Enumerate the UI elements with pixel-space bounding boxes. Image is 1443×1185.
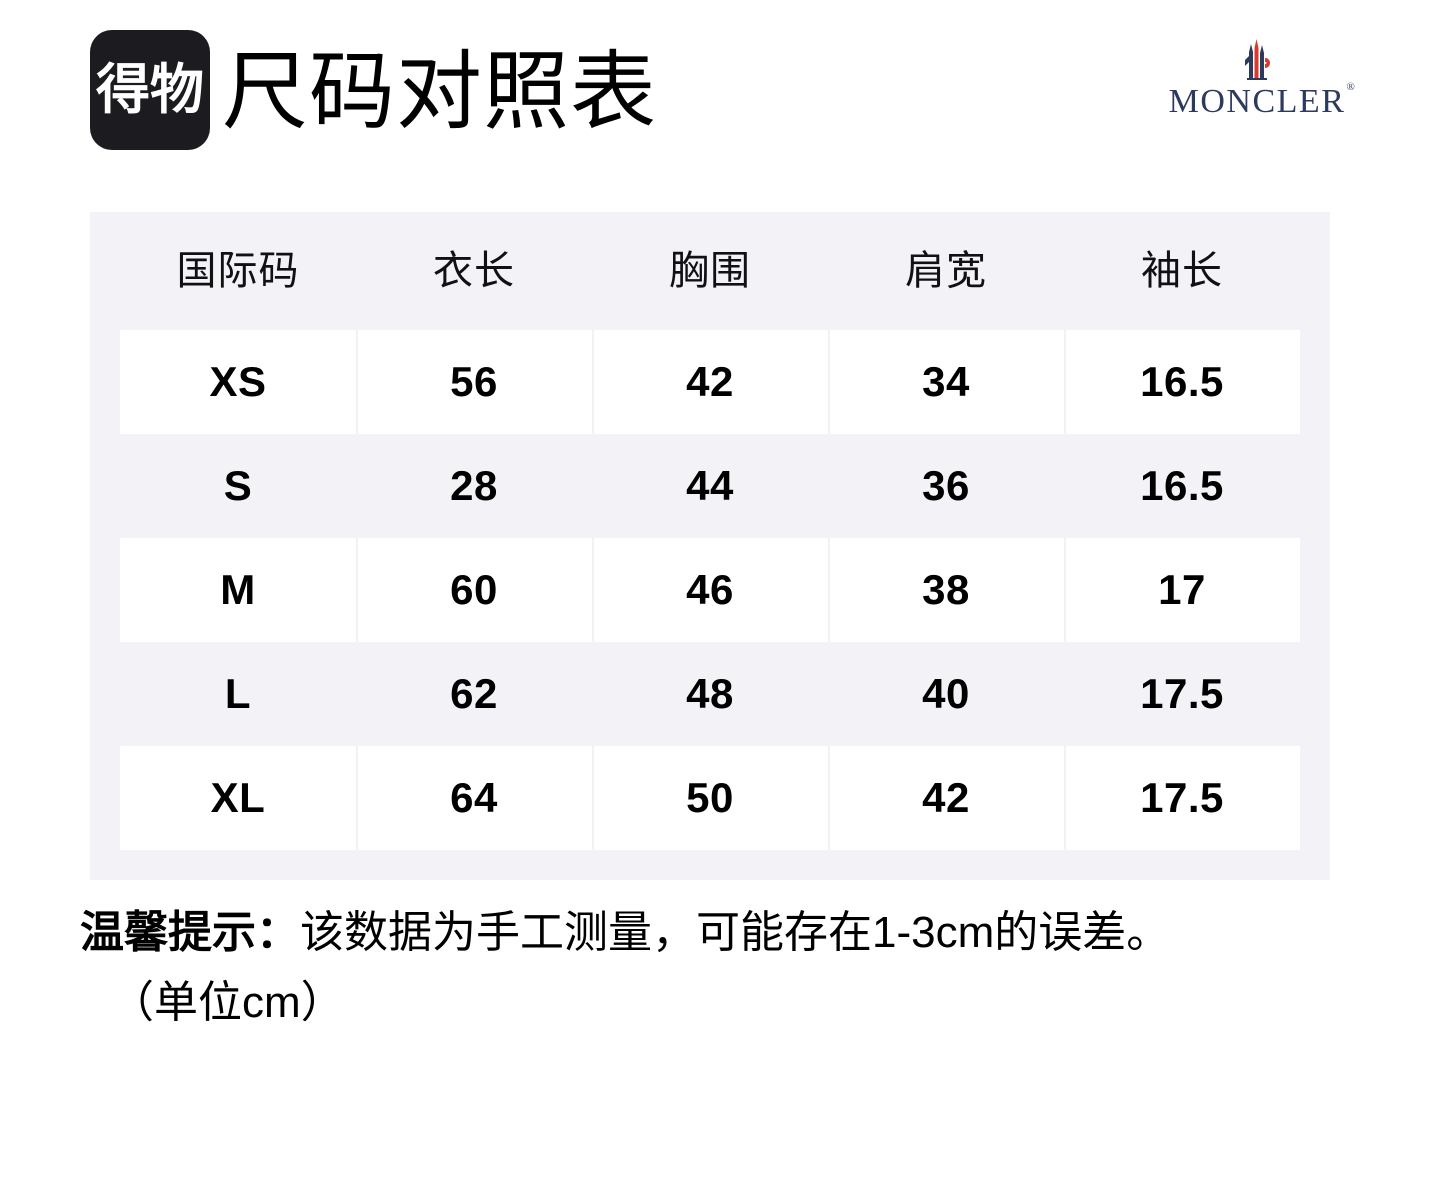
note-text: 该数据为手工测量，可能存在1-3cm的误差。: [300, 908, 1170, 957]
column-header-bust: 胸围: [592, 249, 828, 293]
page-header: 得物 尺码对照表 MONCLER®: [0, 0, 1443, 180]
cell-shoulder: 40: [828, 642, 1064, 746]
size-chart-table: 国际码 衣长 胸围 肩宽 袖长 XS 56 42 34 16.5 S 28 44…: [90, 212, 1330, 880]
measurement-note: 温馨提示：该数据为手工测量，可能存在1-3cm的误差。 （单位cm）: [80, 902, 1380, 1034]
table-row: S 28 44 36 16.5: [120, 434, 1300, 538]
column-header-size: 国际码: [120, 249, 356, 293]
cell-sleeve: 17: [1064, 538, 1300, 642]
table-row: XS 56 42 34 16.5: [120, 330, 1300, 434]
column-header-length: 衣长: [356, 249, 592, 293]
table-body: XS 56 42 34 16.5 S 28 44 36 16.5 M 60 46…: [90, 330, 1330, 880]
cell-size: XL: [120, 746, 356, 850]
table-header-row: 国际码 衣长 胸围 肩宽 袖长: [90, 212, 1330, 330]
cell-length: 62: [356, 642, 592, 746]
dewu-logo-text: 得物: [96, 63, 204, 117]
column-header-sleeve: 袖长: [1064, 249, 1300, 293]
cell-bust: 42: [592, 330, 828, 434]
cell-sleeve: 17.5: [1064, 746, 1300, 850]
moncler-wordmark: MONCLER®: [1169, 84, 1346, 120]
cell-sleeve: 17.5: [1064, 642, 1300, 746]
note-label: 温馨提示：: [80, 908, 300, 957]
cell-length: 28: [356, 434, 592, 538]
note-line-primary: 温馨提示：该数据为手工测量，可能存在1-3cm的误差。: [80, 902, 1380, 964]
table-row: L 62 48 40 17.5: [120, 642, 1300, 746]
moncler-brand-name: MONCLER: [1169, 83, 1346, 120]
cell-size: M: [120, 538, 356, 642]
cell-sleeve: 16.5: [1064, 434, 1300, 538]
dewu-logo-badge: 得物: [90, 30, 210, 150]
cell-sleeve: 16.5: [1064, 330, 1300, 434]
cell-length: 60: [356, 538, 592, 642]
cell-shoulder: 42: [828, 746, 1064, 850]
cell-length: 64: [356, 746, 592, 850]
cell-bust: 44: [592, 434, 828, 538]
cell-size: S: [120, 434, 356, 538]
column-header-shoulder: 肩宽: [828, 249, 1064, 293]
cell-length: 56: [356, 330, 592, 434]
cell-bust: 46: [592, 538, 828, 642]
table-row: XL 64 50 42 17.5: [120, 746, 1300, 850]
cell-size: XS: [120, 330, 356, 434]
cell-bust: 48: [592, 642, 828, 746]
registered-trademark-icon: ®: [1347, 82, 1357, 93]
cell-shoulder: 34: [828, 330, 1064, 434]
note-unit: （单位cm）: [80, 972, 1380, 1034]
cell-shoulder: 38: [828, 538, 1064, 642]
cell-bust: 50: [592, 746, 828, 850]
size-chart-page: 得物 尺码对照表 MONCLER® 国际码 衣长 胸围 肩宽 袖长: [0, 0, 1443, 1185]
page-title: 尺码对照表: [222, 44, 657, 140]
table-row: M 60 46 38 17: [120, 538, 1300, 642]
cell-shoulder: 36: [828, 434, 1064, 538]
cell-size: L: [120, 642, 356, 746]
moncler-emblem-icon: [1237, 36, 1277, 82]
moncler-logo: MONCLER®: [1177, 36, 1337, 136]
